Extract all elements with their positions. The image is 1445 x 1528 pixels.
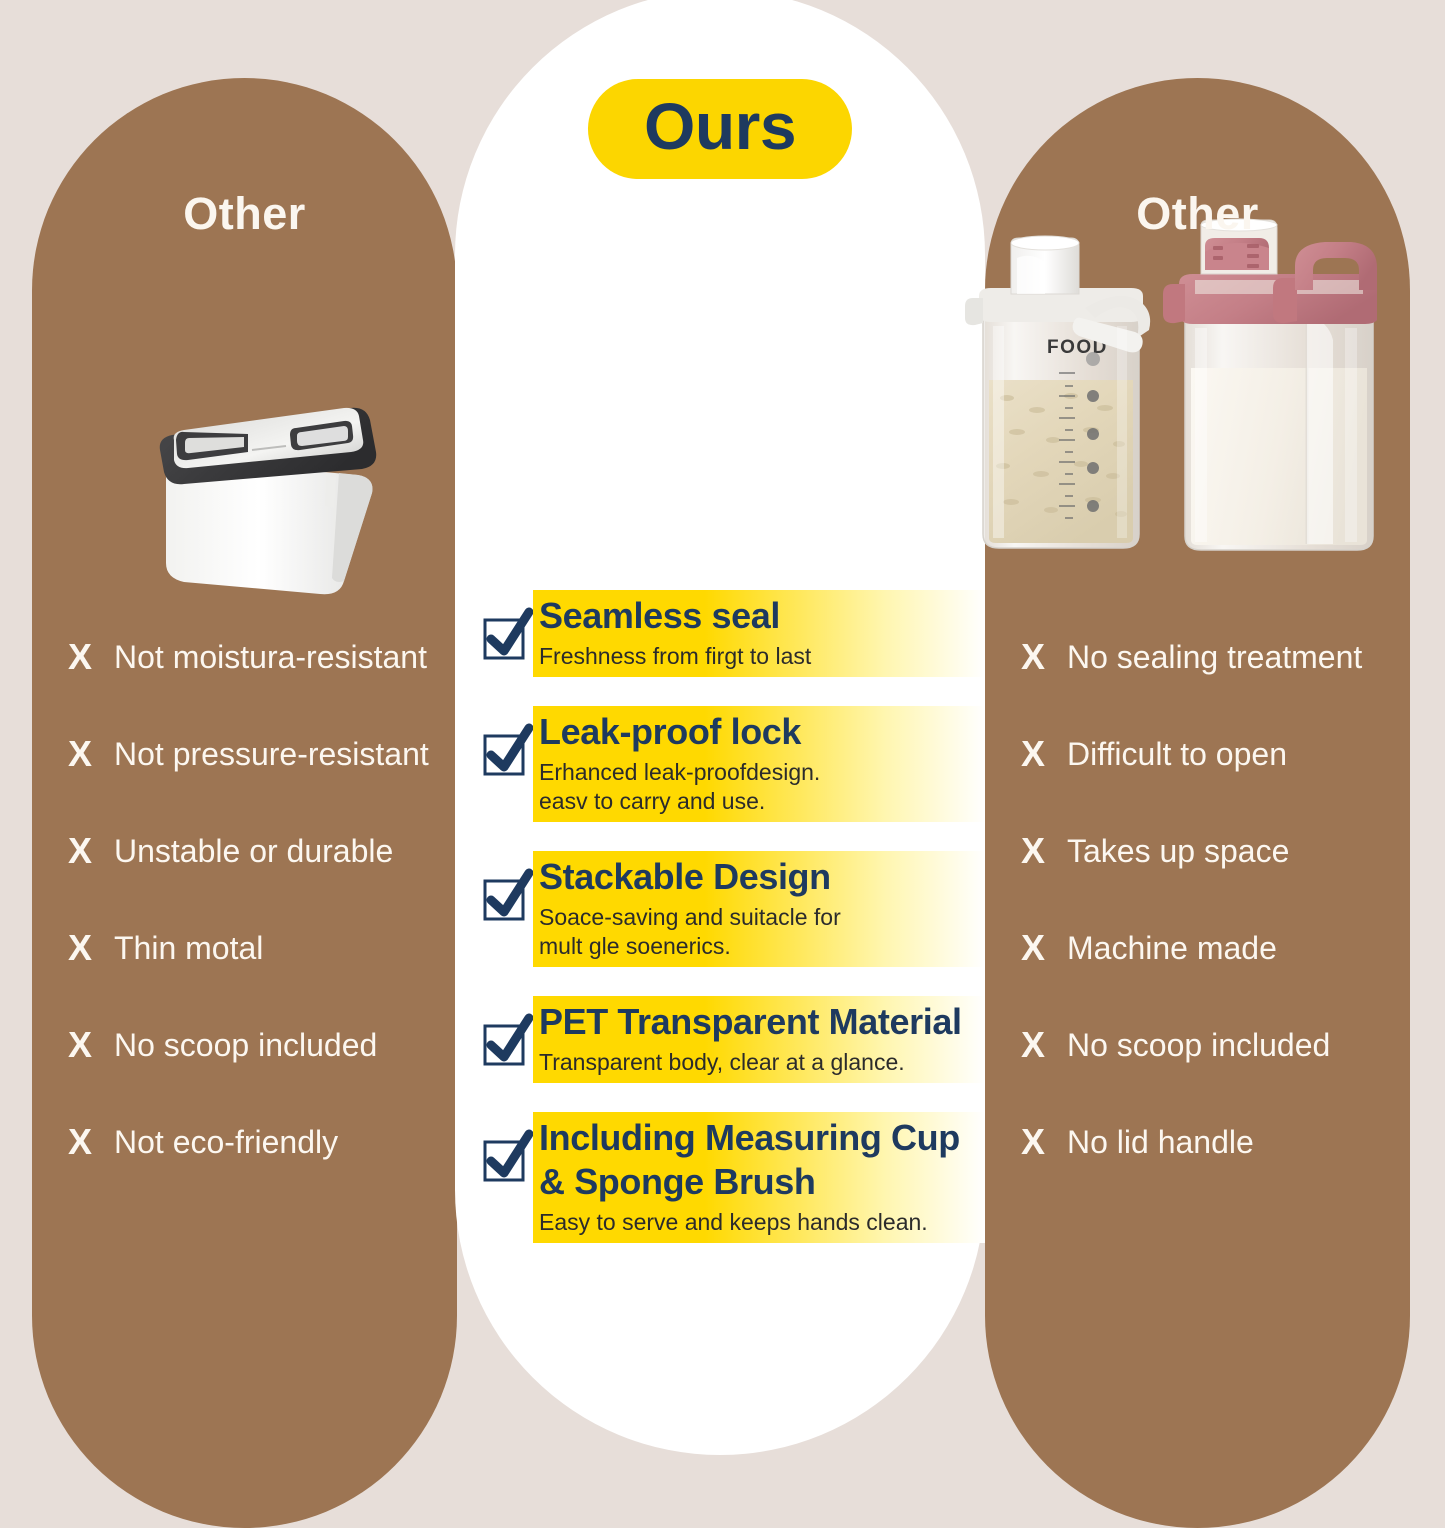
x-icon: X [1021,929,1059,967]
left-product-image [144,378,416,608]
pro-title: Seamless seal [533,590,985,640]
ours-pros-list: Seamless seal Freshness from firgt to la… [455,588,985,1270]
list-item: X Not eco-friendly [32,1123,457,1220]
x-icon: X [1021,832,1059,870]
x-icon: X [68,929,106,967]
left-column-title: Other [32,188,457,240]
other-column-left: Other [32,78,457,1528]
pro-title: Including Measuring Cup & Sponge Brush [533,1112,985,1206]
x-icon: X [68,832,106,870]
list-item: X Not moistura-resistant [32,638,457,735]
list-item: X Takes up space [985,832,1410,929]
con-label: Machine made [1059,929,1277,967]
pro-title: Stackable Design [533,851,985,901]
checkbox-checked-icon [483,1132,531,1184]
con-label: Difficult to open [1059,735,1287,773]
ours-column: Ours [455,0,985,1455]
list-item: Stackable Design Soace-saving and suitac… [455,849,985,967]
con-label: No scoop included [1059,1026,1330,1064]
checkbox-checked-icon [483,726,531,778]
ours-badge: Ours [588,79,852,179]
list-item: X No lid handle [985,1123,1410,1220]
pro-body: Seamless seal Freshness from firgt to la… [533,588,985,677]
comparison-infographic: Other [0,0,1445,1445]
right-cons-list: X No sealing treatment X Difficult to op… [985,638,1410,1220]
pro-title: PET Transparent Material [533,996,985,1046]
con-label: Not moistura-resistant [106,638,427,676]
left-cons-list: X Not moistura-resistant X Not pressure-… [32,638,457,1220]
con-label: No sealing treatment [1059,638,1362,676]
con-label: Thin motal [106,929,263,967]
checkbox-checked-icon [483,610,531,662]
list-item: X Not pressure-resistant [32,735,457,832]
list-item: X Difficult to open [985,735,1410,832]
con-label: No scoop included [106,1026,377,1064]
list-item: Including Measuring Cup & Sponge Brush E… [455,1110,985,1243]
pro-body: Including Measuring Cup & Sponge Brush E… [533,1110,985,1243]
list-item: X Unstable or durable [32,832,457,929]
list-item: X No scoop included [32,1026,457,1123]
list-item: X No scoop included [985,1026,1410,1123]
x-icon: X [68,638,106,676]
con-label: Not pressure-resistant [106,735,429,773]
list-item: Seamless seal Freshness from firgt to la… [455,588,985,677]
x-icon: X [1021,1123,1059,1161]
pro-subtitle: Transparent body, clear at a glance. [533,1046,985,1083]
con-label: Takes up space [1059,832,1289,870]
pro-subtitle: Freshness from firgt to last [533,640,985,677]
pro-title: Leak-proof lock [533,706,985,756]
checkbox-checked-icon [483,1016,531,1068]
list-item: PET Transparent Material Transparent bod… [455,994,985,1083]
center-product-image: FOOD [947,218,1377,558]
list-item: Leak-proof lock Erhanced leak-proofdesig… [455,704,985,822]
pro-body: Leak-proof lock Erhanced leak-proofdesig… [533,704,985,822]
x-icon: X [68,1026,106,1064]
pro-subtitle: Erhanced leak-proofdesign. easv to carry… [533,756,985,822]
list-item: X No sealing treatment [985,638,1410,735]
con-label: Unstable or durable [106,832,393,870]
list-item: X Machine made [985,929,1410,1026]
con-label: No lid handle [1059,1123,1254,1161]
checkbox-checked-icon [483,871,531,923]
con-label: Not eco-friendly [106,1123,338,1161]
x-icon: X [68,735,106,773]
pro-body: Stackable Design Soace-saving and suitac… [533,849,985,967]
x-icon: X [1021,638,1059,676]
pro-subtitle: Soace-saving and suitacle for mult gle s… [533,901,985,967]
pro-subtitle: Easy to serve and keeps hands clean. [533,1206,985,1243]
x-icon: X [1021,1026,1059,1064]
ours-label: Ours [644,93,796,159]
x-icon: X [68,1123,106,1161]
pro-body: PET Transparent Material Transparent bod… [533,994,985,1083]
list-item: X Thin motal [32,929,457,1026]
right-column-title: Other [985,188,1410,240]
x-icon: X [1021,735,1059,773]
